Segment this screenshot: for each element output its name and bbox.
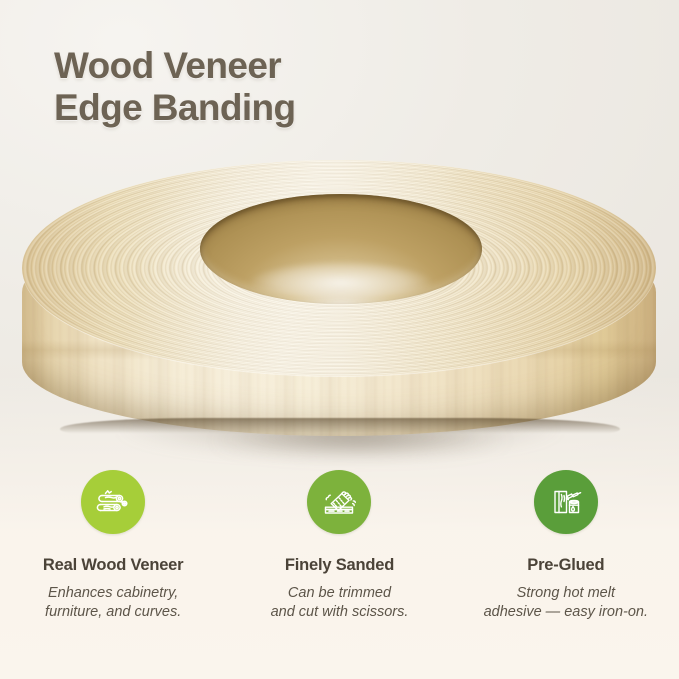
feature-desc-3-line-2: adhesive — easy iron-on.	[484, 603, 648, 622]
feature-description-3: Strong hot melt adhesive — easy iron-on.	[484, 584, 648, 622]
feature-item-real-wood-veneer: Real Wood Veneer Enhances cabinetry, fur…	[0, 470, 226, 670]
glue-brush-can-icon	[546, 482, 586, 522]
core-hole-floor-highlight	[236, 258, 446, 298]
roll-base-contact-line	[60, 418, 620, 440]
headline-line-2: Edge Banding	[54, 87, 474, 129]
feature-badge-2	[307, 470, 371, 534]
feature-badge-3	[534, 470, 598, 534]
product-image	[0, 160, 679, 490]
feature-desc-3-line-1: Strong hot melt	[484, 584, 648, 603]
page-title: Wood Veneer Edge Banding	[54, 45, 474, 129]
feature-title-3: Pre-Glued	[527, 556, 604, 575]
feature-title-2: Finely Sanded	[285, 556, 394, 575]
feature-item-finely-sanded: Finely Sanded Can be trimmed and cut wit…	[226, 470, 452, 670]
feature-item-pre-glued: Pre-Glued Strong hot melt adhesive — eas…	[453, 470, 679, 670]
feature-desc-1-line-1: Enhances cabinetry,	[45, 584, 181, 603]
feature-title-1: Real Wood Veneer	[43, 556, 183, 575]
product-marketing-image: Wood Veneer Edge Banding	[0, 0, 679, 679]
feature-description-2: Can be trimmed and cut with scissors.	[271, 584, 409, 622]
feature-desc-1-line-2: furniture, and curves.	[45, 603, 181, 622]
feature-list: Real Wood Veneer Enhances cabinetry, fur…	[0, 470, 679, 670]
feature-badge-1	[81, 470, 145, 534]
stacked-logs-icon	[93, 482, 133, 522]
feature-description-1: Enhances cabinetry, furniture, and curve…	[45, 584, 181, 622]
feature-desc-2-line-2: and cut with scissors.	[271, 603, 409, 622]
hand-sanding-board-icon	[319, 482, 359, 522]
headline-line-1: Wood Veneer	[54, 45, 281, 86]
feature-desc-2-line-1: Can be trimmed	[271, 584, 409, 603]
